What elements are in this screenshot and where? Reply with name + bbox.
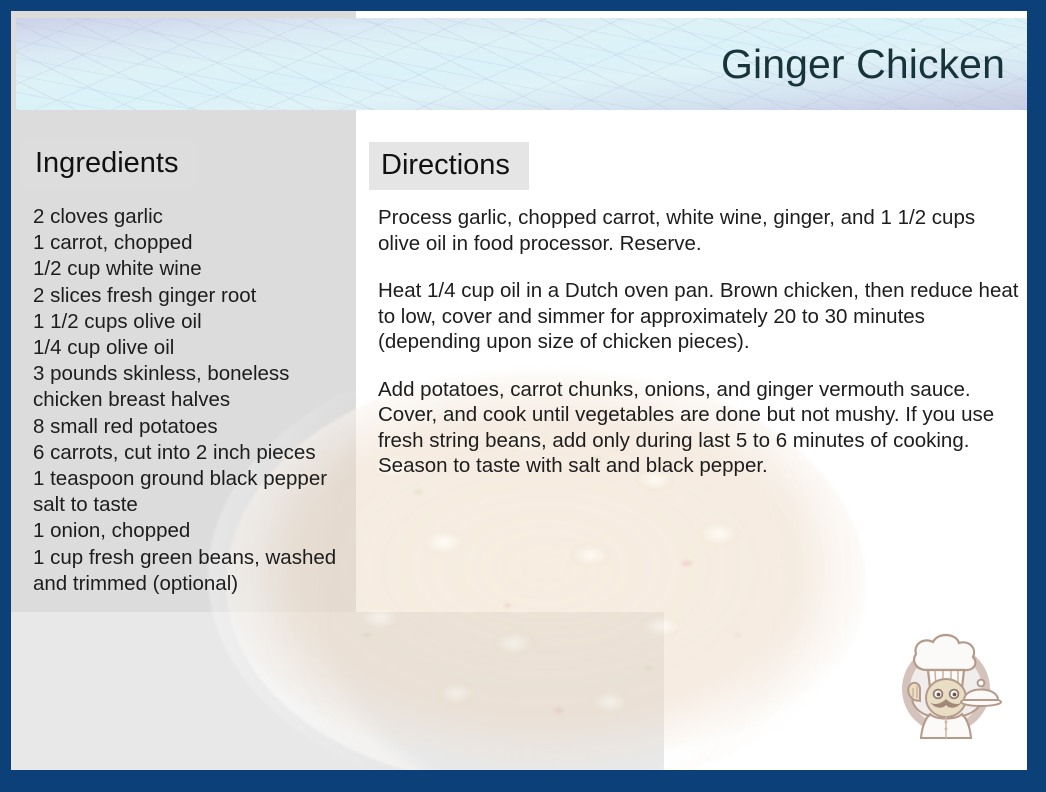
direction-step: Process garlic, chopped carrot, white wi… <box>378 205 1020 256</box>
page-title: Ginger Chicken <box>721 44 1027 85</box>
card-border-bottom <box>0 770 1046 792</box>
list-item: 3 pounds skinless, boneless <box>33 361 363 387</box>
ingredients-list: 2 cloves garlic 1 carrot, chopped 1/2 cu… <box>33 204 363 597</box>
list-item: 1/4 cup olive oil <box>33 335 363 361</box>
title-banner: Ginger Chicken <box>16 18 1027 110</box>
recipe-page: Ginger Chicken Ingredients 2 cloves garl… <box>11 11 1027 770</box>
card-border-right <box>1027 0 1046 792</box>
card-border-left <box>0 0 11 792</box>
list-item: 1 teaspoon ground black pepper <box>33 466 363 492</box>
recipe-card: Ginger Chicken Ingredients 2 cloves garl… <box>0 0 1046 792</box>
direction-step: Add potatoes, carrot chunks, onions, and… <box>378 377 1020 479</box>
list-item: 8 small red potatoes <box>33 414 363 440</box>
list-item: 2 slices fresh ginger root <box>33 283 363 309</box>
list-item: chicken breast halves <box>33 387 363 413</box>
list-item: 1 carrot, chopped <box>33 230 363 256</box>
ingredients-heading: Ingredients <box>23 140 198 188</box>
list-item: 2 cloves garlic <box>33 204 363 230</box>
list-item: and trimmed (optional) <box>33 571 363 597</box>
card-border-top <box>0 0 1046 11</box>
list-item: 1 1/2 cups olive oil <box>33 309 363 335</box>
direction-step: Heat 1/4 cup oil in a Dutch oven pan. Br… <box>378 278 1020 355</box>
list-item: 6 carrots, cut into 2 inch pieces <box>33 440 363 466</box>
list-item: 1 onion, chopped <box>33 518 363 544</box>
directions-heading: Directions <box>369 142 529 190</box>
directions-steps: Process garlic, chopped carrot, white wi… <box>378 205 1020 479</box>
list-item: salt to taste <box>33 492 363 518</box>
list-item: 1/2 cup white wine <box>33 256 363 282</box>
list-item: 1 cup fresh green beans, washed <box>33 545 363 571</box>
chef-mascot-logo <box>886 626 1006 744</box>
directions-panel <box>11 612 664 770</box>
